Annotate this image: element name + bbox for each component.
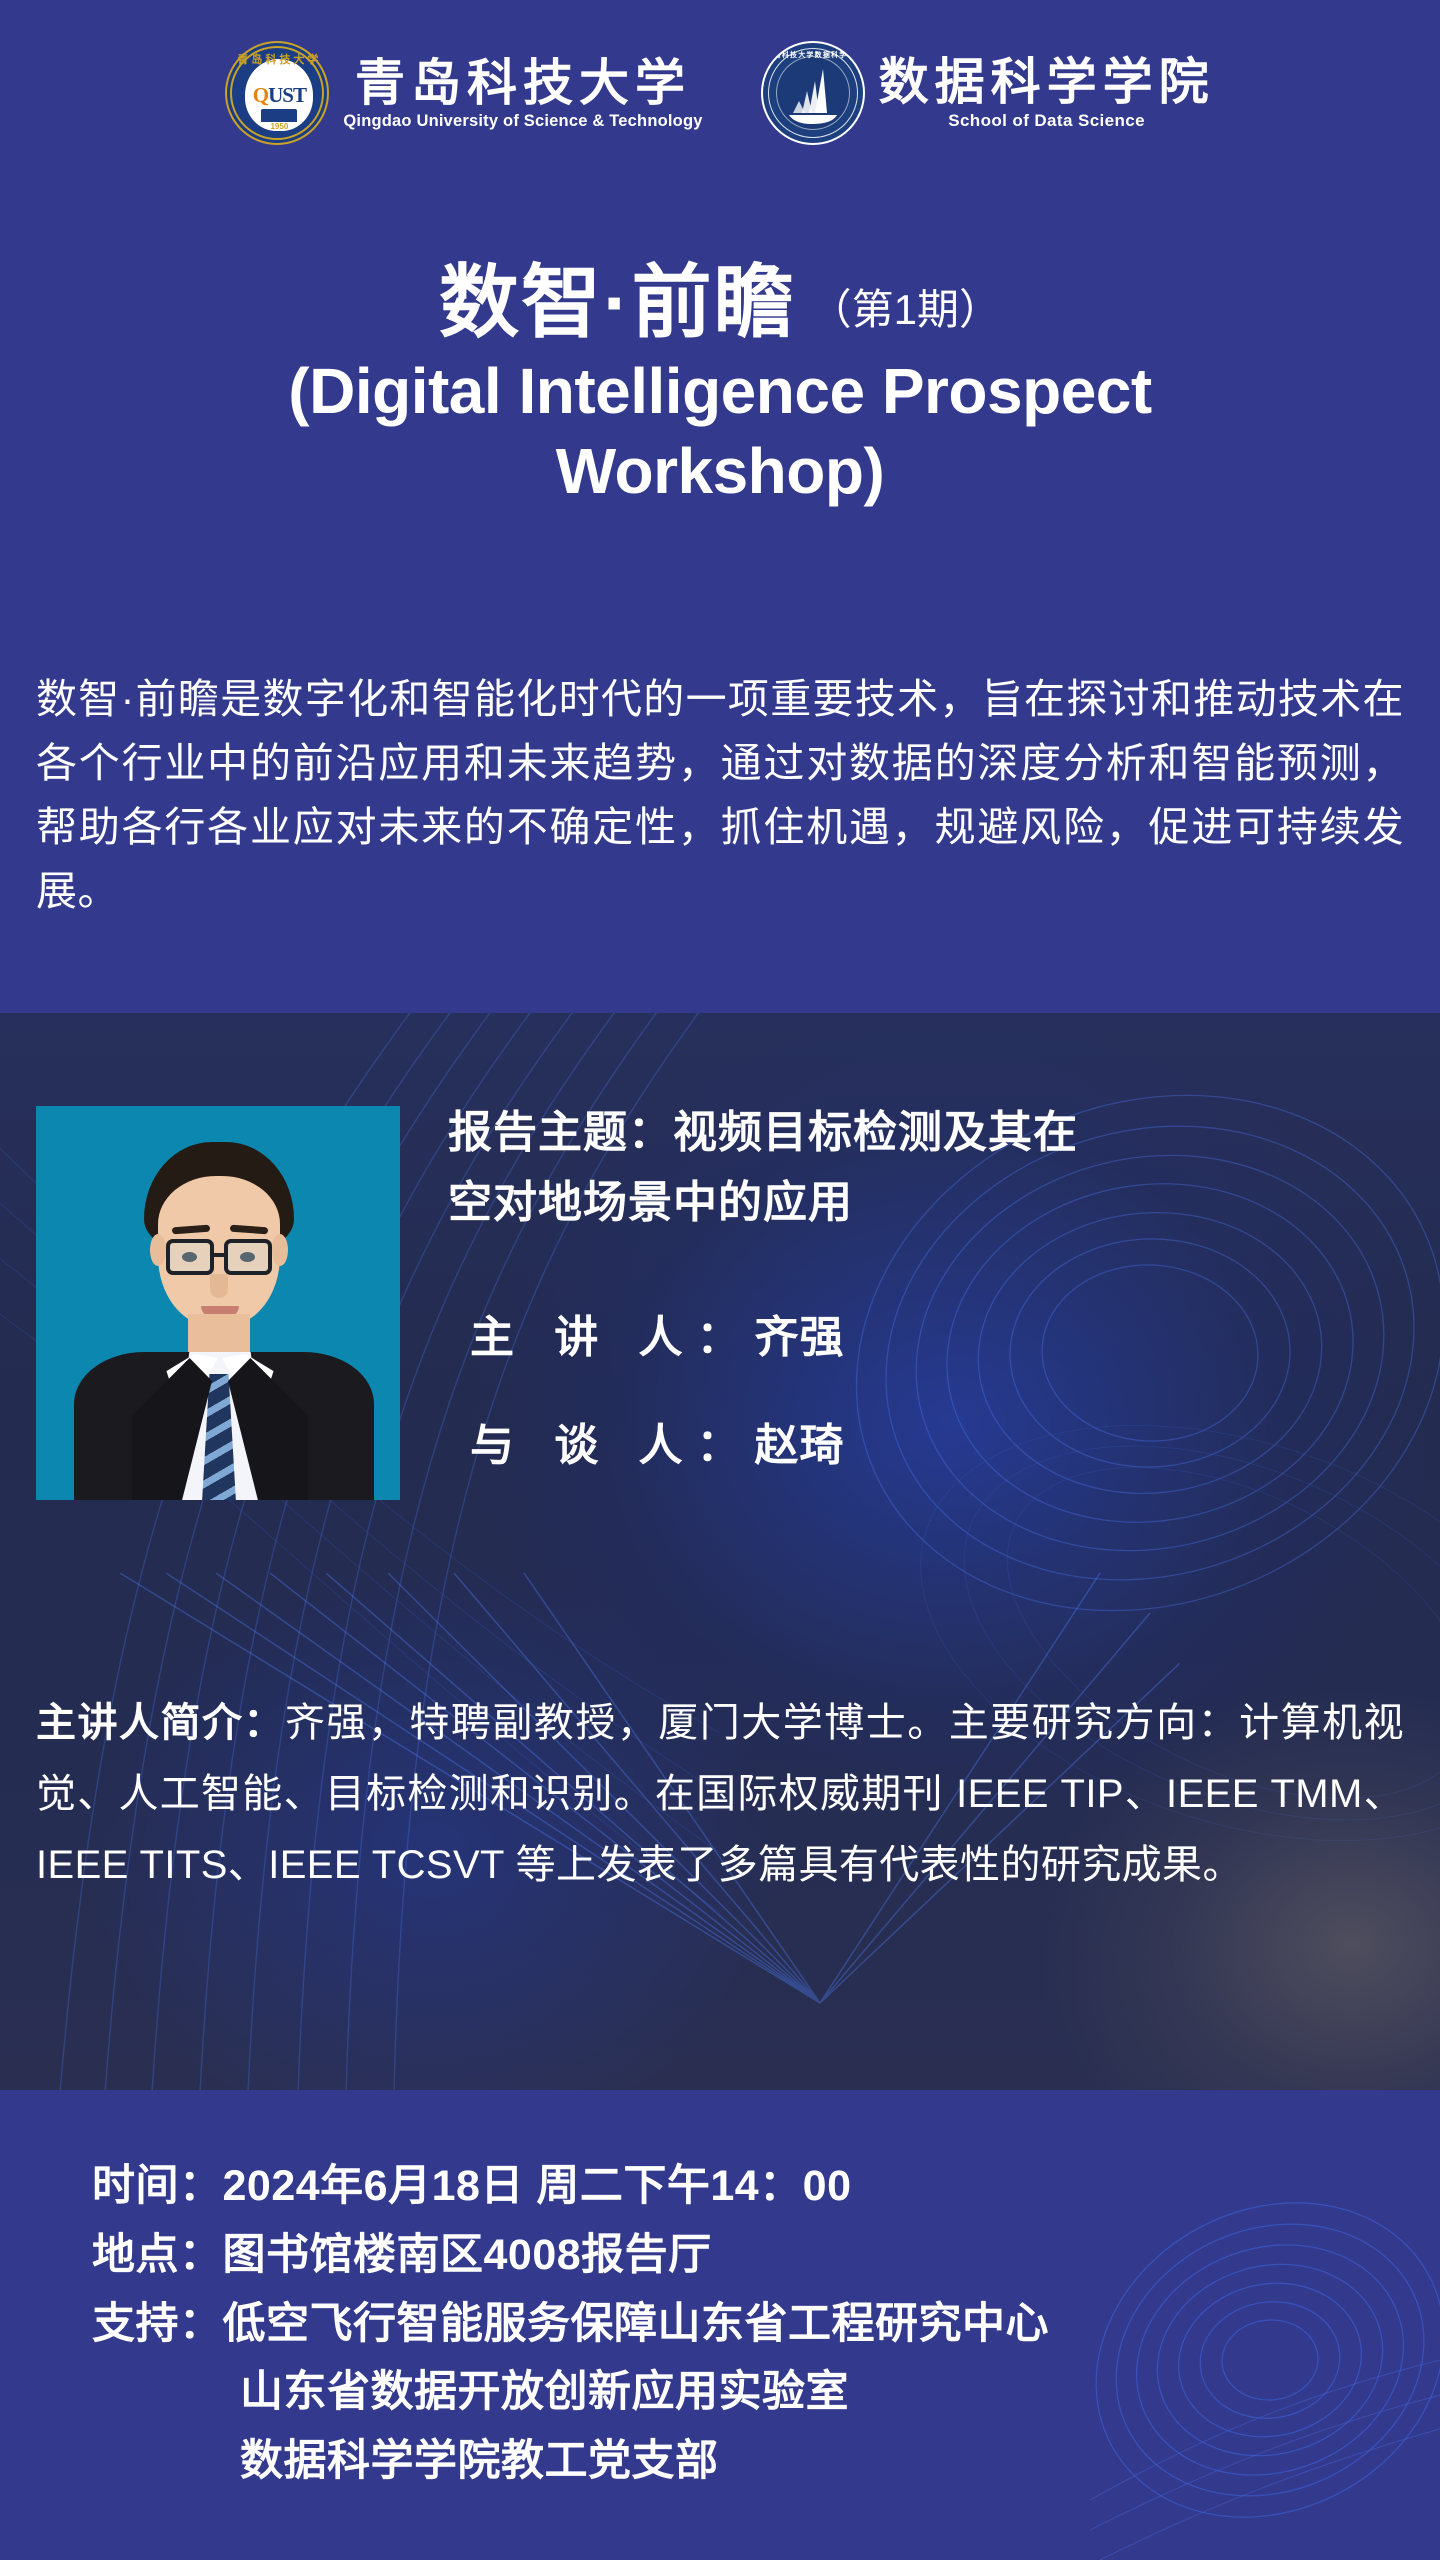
event-time-value: 2024年6月18日 周二下午14：00 [223,2152,1353,2221]
school-logo-text: 数据科学学院 School of Data Science [879,55,1215,131]
talk-topic-line1: 报告主题：视频目标检测及其在 [448,1098,1388,1168]
poster-root: 青岛科技大学 QUST 1950 青岛科技大学 Qingdao Universi… [0,0,1440,2560]
title-chinese-main: 数智·前瞻 [439,258,796,347]
presenter-row: 主 讲 人：齐强 [448,1301,1388,1365]
qust-seal-icon: 青岛科技大学 QUST 1950 [225,41,329,145]
sds-seal-icon: 青岛科技大学数据科学学院 [761,41,865,145]
event-support-value: 低空飞行智能服务保障山东省工程研究中心 [223,2290,1353,2359]
discussant-name: 赵琦 [754,1421,844,1470]
school-name-cn: 数据科学学院 [879,55,1215,109]
portrait-ear-right [272,1234,288,1266]
event-support-line2: 山东省数据开放创新应用实验室 [92,2358,1352,2427]
discussant-label: 与 谈 人： [470,1421,754,1470]
event-support-label: 支持： [92,2290,223,2359]
bio-label: 主讲人简介： [36,1701,285,1745]
portrait-glasses-right [224,1239,272,1275]
event-time-row: 时间： 2024年6月18日 周二下午14：00 [92,2152,1352,2221]
speaker-bio: 主讲人简介：齐强，特聘副教授，厦门大学博士。主要研究方向：计算机视觉、人工智能、… [36,1688,1404,1902]
university-logo-text: 青岛科技大学 Qingdao University of Science & T… [343,56,702,131]
portrait-glasses-bridge [212,1253,226,1257]
school-logo-block: 青岛科技大学数据科学学院 数据科学学院 School of Data Scien… [761,41,1215,145]
title-issue-number: （第1期） [810,286,1001,333]
title-english-line2: Workshop) [60,434,1380,508]
event-time-label: 时间： [92,2152,223,2221]
event-place-value: 图书馆楼南区4008报告厅 [223,2221,1353,2290]
presenter-name: 齐强 [754,1313,844,1362]
university-name-cn: 青岛科技大学 [355,56,691,110]
event-support-row: 支持： 低空飞行智能服务保障山东省工程研究中心 [92,2290,1352,2359]
presenter-label: 主 讲 人： [470,1313,754,1362]
event-support-line3: 数据科学学院教工党支部 [92,2427,1352,2496]
sds-seal-arc-cn: 青岛科技大学数据科学学院 [763,50,865,60]
university-logo-block: 青岛科技大学 QUST 1950 青岛科技大学 Qingdao Universi… [225,41,702,145]
portrait-glasses-left [166,1239,214,1275]
event-place-row: 地点： 图书馆楼南区4008报告厅 [92,2221,1352,2290]
title-chinese: 数智·前瞻（第1期） [60,258,1380,348]
discussant-row: 与 谈 人：赵琦 [448,1409,1388,1473]
talk-topic-line2: 空对地场景中的应用 [448,1168,1388,1238]
school-name-en: School of Data Science [948,111,1145,131]
portrait-nose [210,1274,228,1298]
qust-seal-mark: QUST [227,83,331,108]
qust-seal-year: 1950 [227,122,331,131]
intro-paragraph: 数智·前瞻是数字化和智能化时代的一项重要技术，旨在探讨和推动技术在各个行业中的前… [36,668,1404,924]
sailboat-icon [785,67,845,125]
portrait-ear-left [150,1234,166,1266]
header-logos: 青岛科技大学 QUST 1950 青岛科技大学 Qingdao Universi… [0,38,1440,148]
event-details: 时间： 2024年6月18日 周二下午14：00 地点： 图书馆楼南区4008报… [92,2152,1352,2496]
title-english-line1: (Digital Intelligence Prospect [60,354,1380,428]
talk-info-block: 报告主题：视频目标检测及其在 空对地场景中的应用 主 讲 人：齐强 与 谈 人：… [448,1098,1388,1473]
university-name-en: Qingdao University of Science & Technolo… [343,112,702,131]
qust-seal-gate-icon [261,109,297,122]
poster-title: 数智·前瞻（第1期） (Digital Intelligence Prospec… [0,258,1440,508]
speaker-photo [36,1106,400,1500]
event-place-label: 地点： [92,2221,223,2290]
